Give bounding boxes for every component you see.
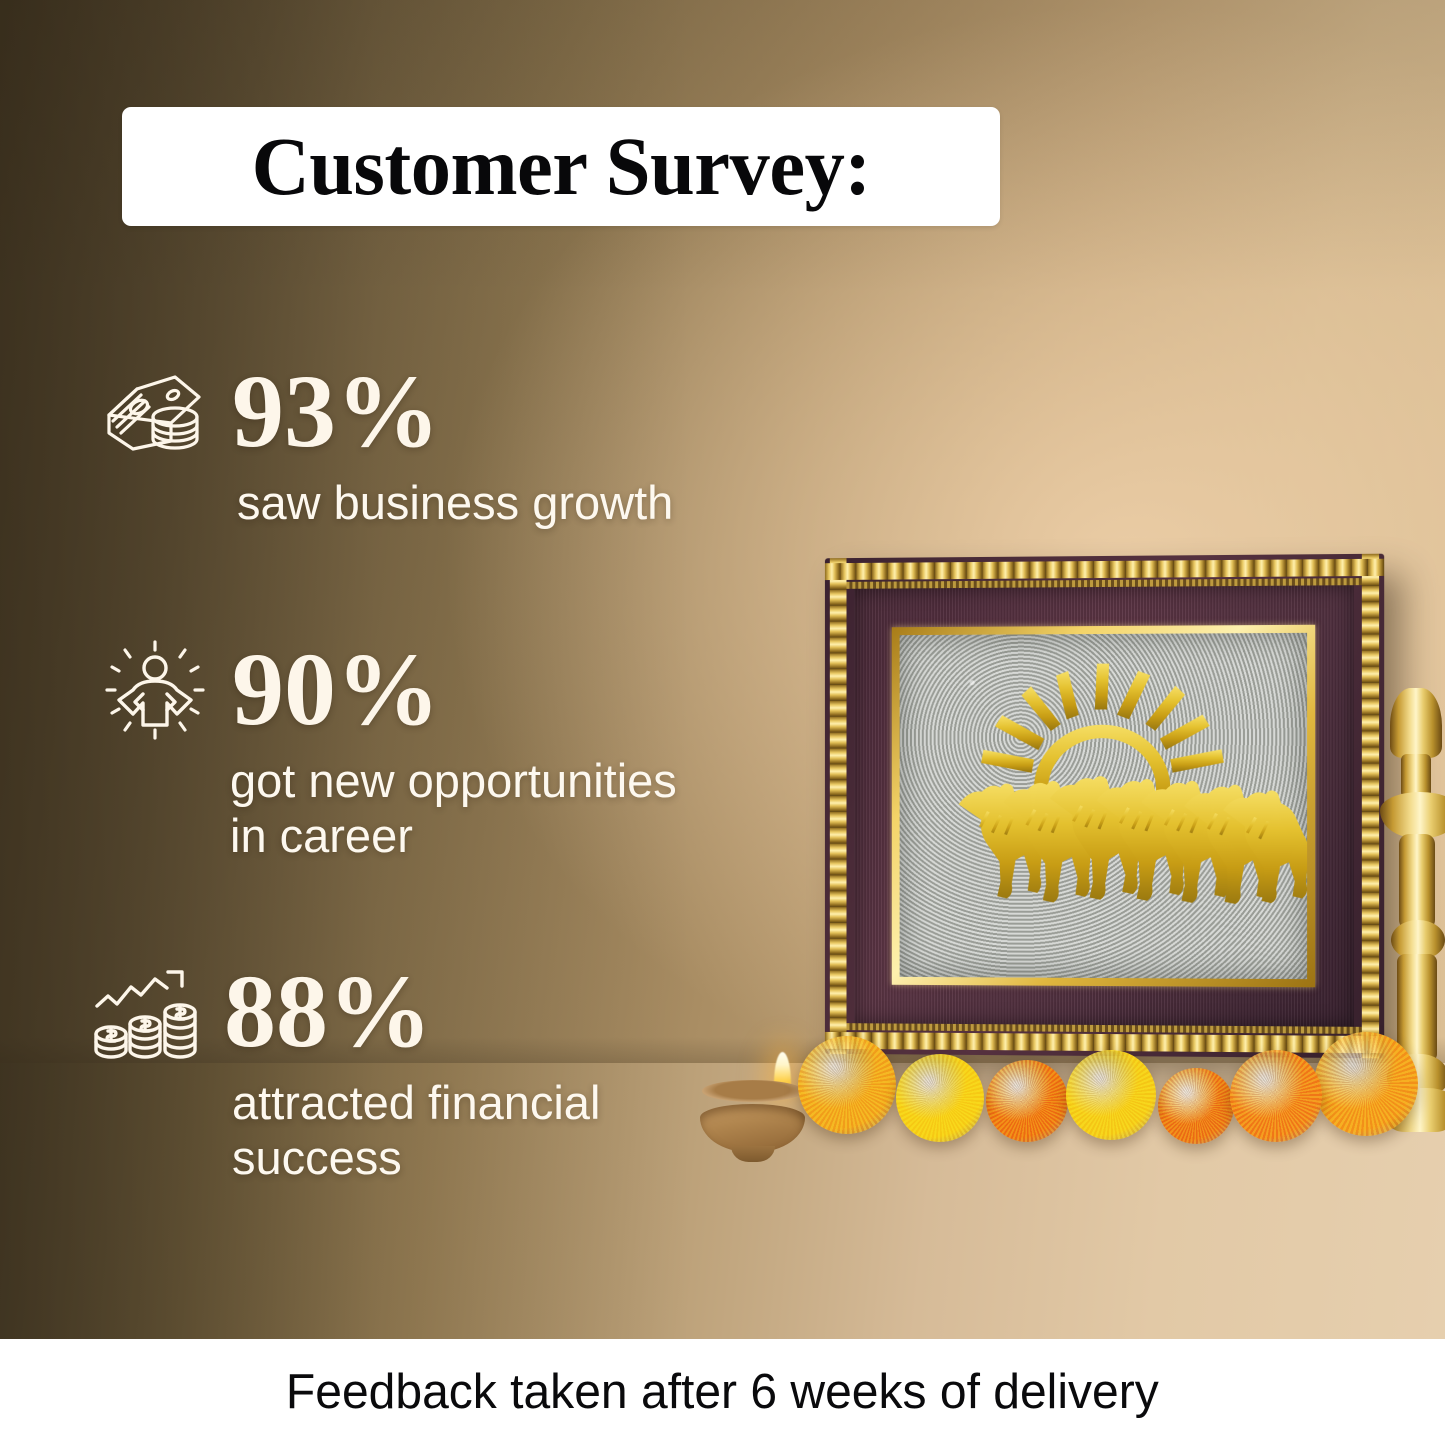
stat-block-career-opportunities: 90% got new opportunities in career [100, 638, 677, 864]
seven-horses-sun-icon [900, 633, 1307, 979]
lamp-dish [1380, 792, 1445, 838]
stat-label: got new opportunities in career [230, 754, 677, 864]
marigold-flower [798, 1036, 896, 1134]
stat-label: saw business growth [237, 476, 673, 531]
diya-base [731, 1146, 775, 1162]
marigold-flower [1230, 1050, 1322, 1142]
stat-head: 93% [100, 360, 673, 464]
stat-percent: 90% [232, 638, 440, 742]
marigold-flower [1314, 1032, 1418, 1136]
lamp-stem-lower [1397, 954, 1437, 1062]
artwork-canvas [900, 633, 1307, 979]
stat-block-financial-success: 88% attracted financial success [92, 960, 600, 1186]
frame-bead-trim-top [825, 559, 1384, 580]
marigold-flower [896, 1054, 984, 1142]
stat-percent: 88% [224, 960, 432, 1064]
promo-graphic: Customer Survey: 93% [0, 0, 1445, 1445]
marigold-garland [780, 1028, 1400, 1158]
title-banner: Customer Survey: [122, 107, 1000, 226]
marigold-flower [1066, 1050, 1156, 1140]
confident-person-icon [100, 644, 210, 736]
frame-bead-trim-right [1362, 554, 1379, 1059]
lamp-stem-upper [1399, 834, 1435, 930]
stat-block-business-growth: 93% saw business growth [100, 360, 673, 531]
page-title: Customer Survey: [251, 125, 870, 208]
caption-bar: Feedback taken after 6 weeks of delivery [0, 1339, 1445, 1445]
marigold-flower [1158, 1068, 1234, 1144]
footer-caption: Feedback taken after 6 weeks of delivery [286, 1364, 1159, 1420]
stat-head: 90% [100, 638, 677, 742]
lamp-finial [1390, 688, 1442, 758]
frame-bead-trim-left [830, 558, 847, 1054]
stat-label: attracted financial success [232, 1076, 600, 1186]
marigold-flower [986, 1060, 1068, 1142]
product-photo: Customer Survey: 93% [0, 0, 1445, 1339]
money-stack-icon [100, 366, 210, 458]
framed-horse-artwork [825, 554, 1384, 1059]
growth-chart-coins-icon [92, 966, 202, 1058]
frame-outer-moulding [825, 554, 1384, 1059]
stat-head: 88% [92, 960, 600, 1064]
stat-percent: 93% [232, 360, 440, 464]
